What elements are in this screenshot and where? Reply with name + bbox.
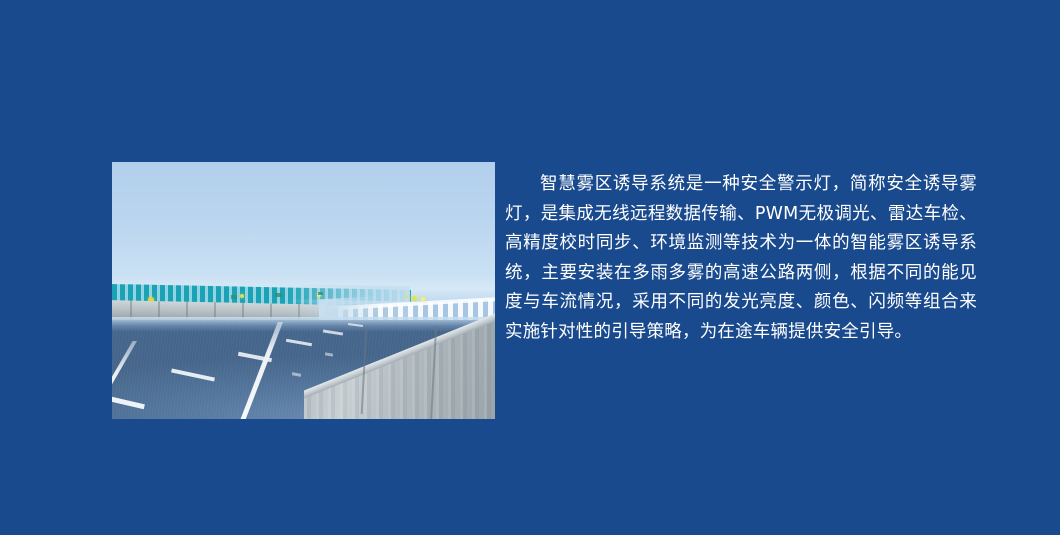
far-road-sign [231,295,237,299]
product-description-block: 智慧雾区诱导系统是一种安全警示灯，简称安全诱导雾灯，是集成无线远程数据传输、PW… [505,170,977,347]
photo-scene [112,162,495,419]
sky-background [112,162,495,291]
far-warning-light [405,295,408,298]
product-description-text: 智慧雾区诱导系统是一种安全警示灯，简称安全诱导雾灯，是集成无线远程数据传输、PW… [505,170,977,347]
highway-bridge-photo [112,162,495,419]
road-distance-fade [112,317,495,332]
slide-root: 智慧雾区诱导系统是一种安全警示灯，简称安全诱导雾灯，是集成无线远程数据传输、PW… [0,0,1060,535]
far-road-sign [318,292,323,295]
far-warning-light [412,296,417,301]
far-road-sign [275,293,282,297]
